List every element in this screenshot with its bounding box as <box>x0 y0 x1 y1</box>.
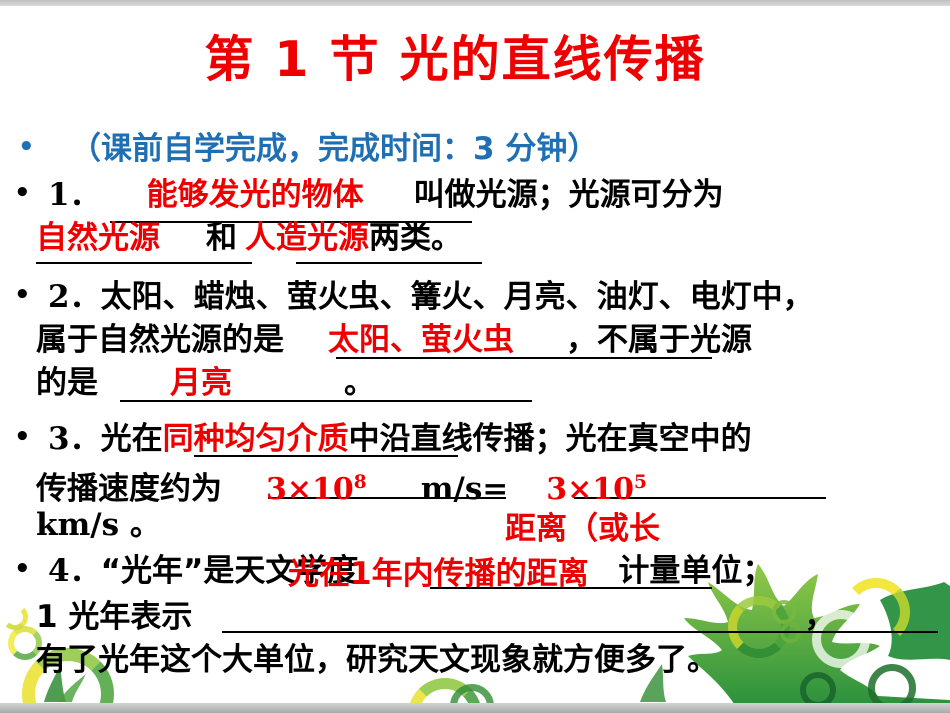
item-2-number: 2． <box>48 279 101 315</box>
item-1-tail-2: 两类。 <box>369 220 462 256</box>
item-2: • 2．太阳、蜡烛、萤火虫、篝火、月亮、油灯、电灯中， <box>14 276 950 319</box>
item-3-unit-ms: m/s= <box>421 471 509 507</box>
bullet-icon: • <box>14 180 31 206</box>
slide-bottom-bar <box>0 703 950 713</box>
item-1-answer-3: 人造光源 <box>245 220 369 256</box>
item-4-line2-head: 1 光年表示 <box>36 599 192 635</box>
slide-body: • （课前自学完成，完成时间：3 分钟） • 1．能够发光的物体叫做光源；光源可… <box>0 118 950 708</box>
item-3-line2-head: 传播速度约为 <box>36 471 222 507</box>
slide-canvas: 第 1 节 光的直线传播 • （课前自学完成，完成时间：3 分钟） • 1．能够… <box>0 0 950 713</box>
slide-top-bar <box>0 0 950 6</box>
item-3: • 3．光在同种均匀介质中沿直线传播；光在真空中的 <box>14 418 950 461</box>
item-2-answer-2: 月亮 <box>170 365 232 401</box>
item-3-answer-1: 同种均匀介质 <box>163 421 349 457</box>
subtitle-text: （课前自学完成，完成时间：3 分钟） <box>18 128 950 171</box>
item-4-line3: 有了光年这个大单位，研究天文现象就方便多了。 <box>14 639 950 682</box>
item-4-line-2: 1 光年表示， <box>14 596 950 639</box>
item-1-body: 1．能够发光的物体叫做光源；光源可分为 <box>14 174 950 217</box>
item-2-line2-body: 属于自然光源的是太阳、萤火虫，不属于光源 <box>14 319 950 362</box>
annotation-lightyear-definition: 光在1年内传播的距离 <box>288 555 589 593</box>
item-1-answer-2: 自然光源 <box>36 220 160 256</box>
item-3-unit-kms: km/s 。 <box>14 504 950 547</box>
item-4-number: 4． <box>48 553 101 589</box>
bullet-icon: • <box>18 134 35 160</box>
item-2-line3-tail: 。 <box>344 365 375 401</box>
item-2-line-2: 属于自然光源的是太阳、萤火虫，不属于光源 <box>14 319 950 362</box>
item-2-line3-head: 的是 <box>36 365 98 401</box>
subtitle-row: • （课前自学完成，完成时间：3 分钟） <box>18 128 950 171</box>
item-2-line2-head: 属于自然光源的是 <box>36 322 284 358</box>
item-3-head: 光在 <box>101 421 163 457</box>
item-2-answer-1: 太阳、萤火虫 <box>328 322 514 358</box>
item-3-body: 3．光在同种均匀介质中沿直线传播；光在真空中的 <box>14 418 950 461</box>
bullet-icon: • <box>14 424 31 450</box>
item-3-number: 3． <box>48 421 101 457</box>
page-title: 第 1 节 光的直线传播 <box>0 20 950 91</box>
item-1-number: 1． <box>48 177 101 213</box>
item-3-speed-ms: 3×108 <box>266 472 367 507</box>
item-1-answer-1: 能够发光的物体 <box>147 177 364 213</box>
annotation-distance-note: 距离（或长 <box>505 510 660 548</box>
item-4-line2-tail: ， <box>804 599 835 635</box>
item-1: • 1．能够发光的物体叫做光源；光源可分为 <box>14 174 950 217</box>
item-4-tail: 计量单位； <box>618 553 773 589</box>
item-1-tail-1: 叫做光源；光源可分为 <box>414 177 724 213</box>
item-2-line2-tail: ，不属于光源 <box>566 322 752 358</box>
item-2-body: 2．太阳、蜡烛、萤火虫、篝火、月亮、油灯、电灯中， <box>14 276 950 319</box>
item-3-speed-kms: 3×105 <box>546 472 647 507</box>
item-1-line-2: 自然光源和人造光源两类。 <box>14 217 950 260</box>
item-4-line2-body: 1 光年表示， <box>14 596 950 639</box>
bullet-icon: • <box>14 282 31 308</box>
item-3-tail: 中沿直线传播；光在真空中的 <box>349 421 752 457</box>
item-2-line-1: 太阳、蜡烛、萤火虫、篝火、月亮、油灯、电灯中， <box>101 279 814 315</box>
item-1-mid: 和 <box>206 220 237 256</box>
bullet-icon: • <box>14 556 31 582</box>
item-3-line-3: km/s 。 <box>14 504 950 547</box>
item-2-line3-body: 的是月亮。 <box>14 362 950 405</box>
item-1-line2-body: 自然光源和人造光源两类。 <box>14 217 950 260</box>
item-4-line-3: 有了光年这个大单位，研究天文现象就方便多了。 <box>14 639 950 682</box>
item-2-line-3: 的是月亮。 <box>14 362 950 405</box>
